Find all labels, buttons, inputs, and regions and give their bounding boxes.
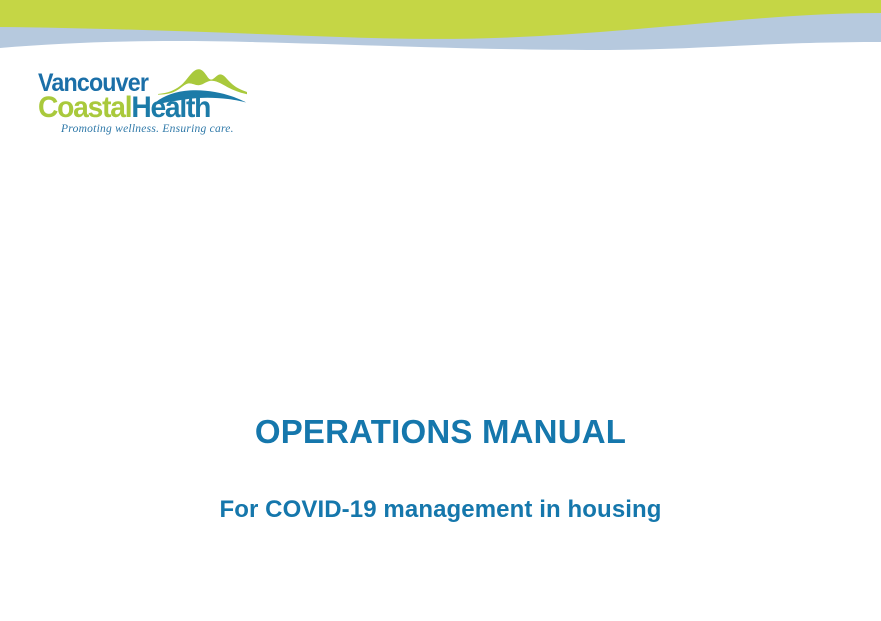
document-cover-page: Vancouver CoastalHealth Promoting wellne… xyxy=(0,0,881,621)
title-block: OPERATIONS MANUAL For COVID-19 managemen… xyxy=(0,412,881,525)
mountain-and-wave-icon xyxy=(156,66,248,106)
wave-banner-svg xyxy=(0,0,881,60)
decorative-wave-banner xyxy=(0,0,881,60)
page-subtitle: For COVID-19 management in housing xyxy=(0,452,881,525)
logo-tagline: Promoting wellness. Ensuring care. xyxy=(61,123,234,135)
vancouver-coastal-health-logo: Vancouver CoastalHealth Promoting wellne… xyxy=(38,70,243,142)
logo-word-coastal: Coastal xyxy=(38,91,131,124)
mountain-and-wave-svg xyxy=(156,66,248,106)
page-title: OPERATIONS MANUAL xyxy=(0,412,881,452)
